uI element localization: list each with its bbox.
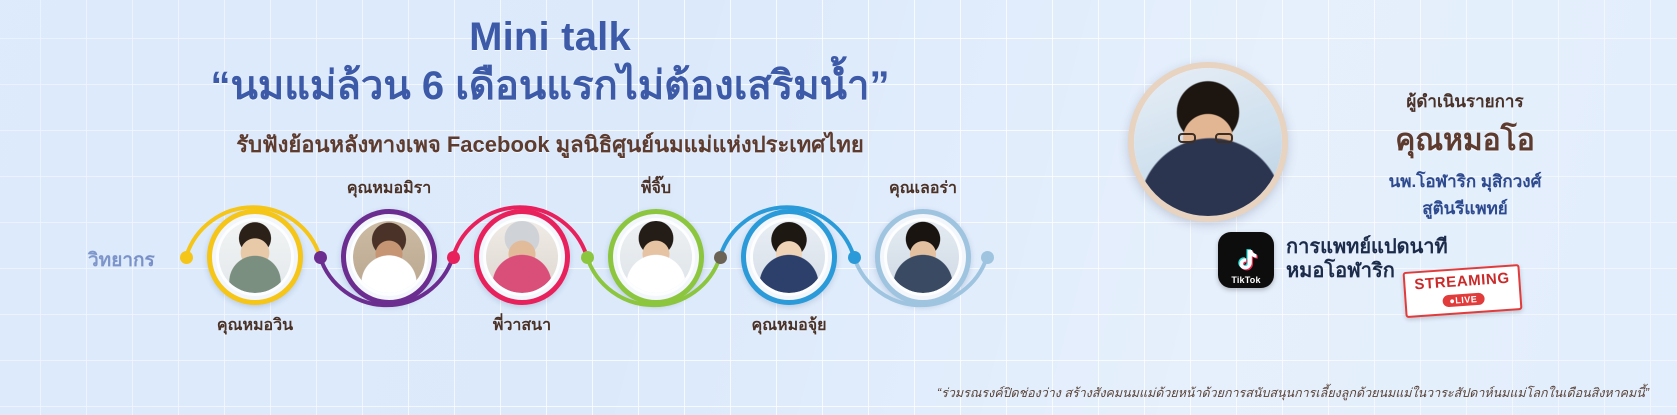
connector-dot	[447, 251, 460, 264]
host-specialty: สูตินรีแพทย์	[1300, 195, 1630, 222]
footer-caption: “ร่วมรณรงค์ปิดช่องว่าง สร้างสังคมนมแม่ด้…	[0, 383, 1649, 403]
connector-dot	[581, 251, 594, 264]
page-title: “นมแม่ล้วน 6 เดือนแรกไม่ต้องเสริมน้ำ”	[0, 61, 1100, 111]
eyebrow-mini-talk: Mini talk	[0, 16, 1100, 59]
streaming-badge: STREAMING ●LIVE	[1403, 264, 1523, 318]
connector-dot	[981, 251, 994, 264]
connector-arcs	[0, 185, 1060, 385]
host-full-name: นพ.โอฬาริก มุสิกวงศ์	[1300, 168, 1630, 195]
connector-dot	[714, 251, 727, 264]
promo-banner: Mini talk “นมแม่ล้วน 6 เดือนแรกไม่ต้องเส…	[0, 0, 1677, 415]
connector-dot	[848, 251, 861, 264]
tiktok-icon[interactable]: TikTok	[1218, 232, 1274, 288]
streaming-label: STREAMING	[1414, 270, 1510, 294]
subtitle: รับฟังย้อนหลังทางเพจ Facebook มูลนิธิศูน…	[0, 127, 1100, 162]
speakers-row: คุณหมอวิน คุณหมอมิรา พี่วาสนา พี่จิ๊บ	[0, 185, 1060, 345]
host-avatar	[1128, 62, 1288, 222]
host-name: คุณหมอโอ	[1300, 117, 1630, 164]
live-badge: ●LIVE	[1442, 293, 1485, 308]
channel-line-1: การแพทย์แปดนาที	[1286, 236, 1448, 260]
host-info: ผู้ดำเนินรายการ คุณหมอโอ นพ.โอฬาริก มุสิ…	[1300, 88, 1630, 222]
host-role: ผู้ดำเนินรายการ	[1300, 88, 1630, 115]
connector-dot	[314, 251, 327, 264]
headline-block: Mini talk “นมแม่ล้วน 6 เดือนแรกไม่ต้องเส…	[0, 16, 1100, 162]
tiktok-label: TikTok	[1218, 275, 1274, 285]
connector-dot	[180, 251, 193, 264]
